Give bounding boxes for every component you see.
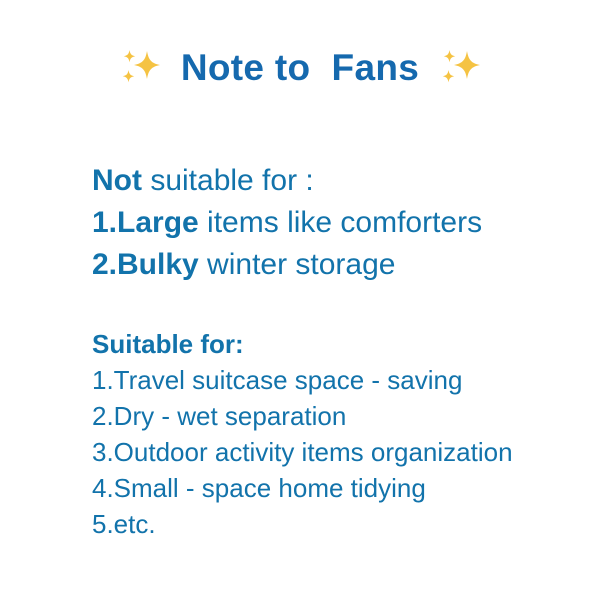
not-suitable-item-rest: items like comforters (199, 206, 482, 239)
suitable-item: 2.Dry - wet separation (92, 398, 513, 434)
sparkles-icon (117, 44, 163, 90)
not-suitable-item: 1.Large items like comforters (92, 202, 482, 244)
suitable-item: 1.Travel suitcase space - saving (92, 362, 513, 398)
not-suitable-heading-rest: suitable for : (142, 164, 314, 197)
note-to-fans-card: Note to Fans Not suitable for : 1.Large … (0, 0, 600, 600)
suitable-item: 3.Outdoor activity items organization (92, 434, 513, 470)
suitable-item: 5.etc. (92, 506, 513, 542)
suitable-section: Suitable for: 1.Travel suitcase space - … (92, 326, 513, 542)
title-row: Note to Fans (0, 44, 600, 90)
not-suitable-item-rest: winter storage (199, 248, 396, 281)
not-suitable-section: Not suitable for : 1.Large items like co… (92, 160, 482, 286)
not-suitable-heading: Not suitable for : (92, 160, 482, 202)
suitable-heading: Suitable for: (92, 326, 513, 362)
sparkles-icon (437, 44, 483, 90)
not-suitable-item: 2.Bulky winter storage (92, 244, 482, 286)
not-suitable-item-bold: 2.Bulky (92, 248, 199, 281)
not-suitable-heading-bold: Not (92, 164, 142, 197)
suitable-item: 4.Small - space home tidying (92, 470, 513, 506)
page-title: Note to Fans (181, 49, 419, 86)
not-suitable-item-bold: 1.Large (92, 206, 199, 239)
